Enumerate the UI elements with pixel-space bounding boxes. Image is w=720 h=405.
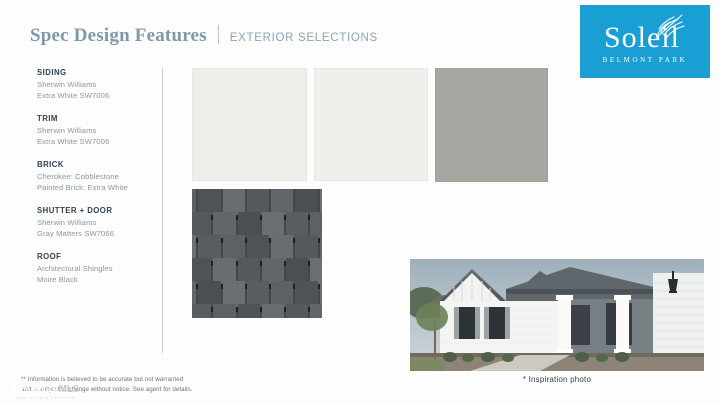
spec-detail-line: Sherwin Williams (37, 79, 157, 90)
brick-color-swatch (435, 68, 548, 182)
spec-item-trim: TRIM Sherwin Williams Extra White SW7006 (37, 114, 157, 147)
watermark-georgia-text: GEORGIA (13, 384, 59, 395)
page-title: Spec Design Features (30, 25, 207, 47)
spec-item-roof: ROOF Architectural Shingles Moire Black (37, 252, 157, 285)
spec-detail-line: Gray Matters SW7066 (37, 228, 157, 239)
spec-item-siding: SIDING Sherwin Williams Extra White SW70… (37, 68, 157, 101)
spec-detail-line: Architectural Shingles (37, 263, 157, 274)
spec-detail-line: Moire Black (37, 274, 157, 285)
spec-item-shutter-door: SHUTTER + DOOR Sherwin Williams Gray Mat… (37, 206, 157, 239)
spec-detail-line: Extra White SW7006 (37, 90, 157, 101)
vertical-divider (162, 68, 163, 353)
spec-detail-line: Painted Brick: Extra White (37, 182, 157, 193)
photo-caption: * Inspiration photo (410, 375, 704, 384)
spec-title-brick: BRICK (37, 160, 157, 169)
watermark-mls-text: MLS (59, 384, 80, 395)
inspiration-photo (410, 259, 704, 371)
trim-color-swatch (314, 68, 428, 181)
spec-detail-line: Extra White SW7006 (37, 136, 157, 147)
spec-title-shutter-door: SHUTTER + DOOR (37, 206, 157, 215)
spec-detail-line: Sherwin Williams (37, 125, 157, 136)
spec-title-trim: TRIM (37, 114, 157, 123)
spec-title-siding: SIDING (37, 68, 157, 77)
georgia-mls-watermark: GEORGIA MLS REAL ESTATE SERVICES (4, 381, 88, 402)
watermark-subtitle: REAL ESTATE SERVICES (17, 396, 75, 400)
siding-color-swatch (192, 68, 307, 181)
spec-list: SIDING Sherwin Williams Extra White SW70… (37, 68, 157, 298)
palm-frond-icon (652, 13, 686, 39)
logo-community-name: BELMONT PARK (603, 56, 688, 64)
spec-item-brick: BRICK Cherokee: Cobblestone Painted Bric… (37, 160, 157, 193)
spec-detail-line: Sherwin Williams (37, 217, 157, 228)
header-divider (218, 25, 219, 44)
roof-shingle-swatch (192, 189, 322, 318)
page-header: Spec Design Features EXTERIOR SELECTIONS (30, 22, 378, 47)
page-subtitle: EXTERIOR SELECTIONS (230, 32, 378, 44)
soleil-logo: Soleil BELMONT PARK (580, 5, 710, 78)
spec-detail-line: Cherokee: Cobblestone (37, 171, 157, 182)
spec-title-roof: ROOF (37, 252, 157, 261)
